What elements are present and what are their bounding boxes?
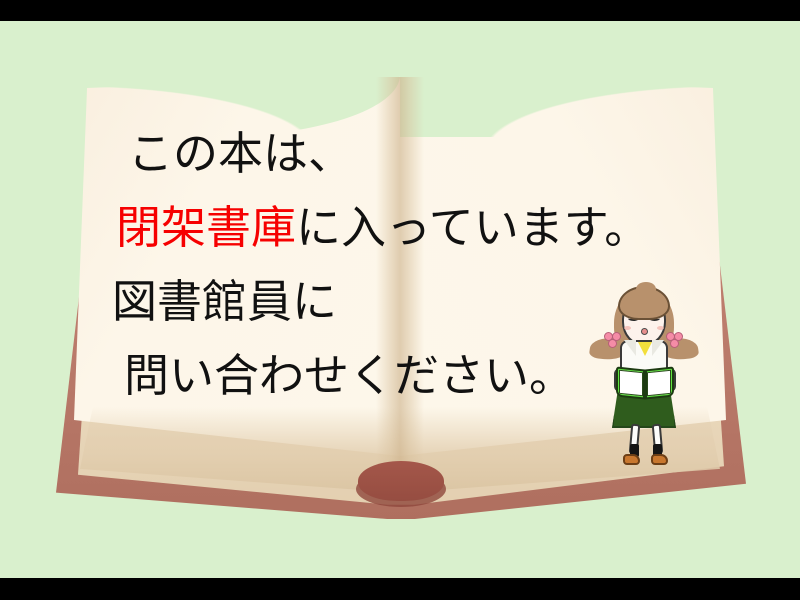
collar-left: [624, 340, 636, 356]
screenshot-canvas: この本は、 閉架書庫に入っています。 図書館員に 問い合わせください。: [0, 0, 800, 600]
flower-hairpin-right: [666, 332, 684, 350]
necktie: [638, 342, 652, 356]
message-line-2: 閉架書庫に入っています。: [86, 191, 726, 265]
held-book-page-right: [647, 370, 671, 397]
message-line-2-rest: に入っています。: [296, 201, 649, 254]
cheek-right: [657, 326, 664, 330]
cheek-left: [624, 326, 631, 330]
message-line-2-highlight: 閉架書庫: [116, 201, 296, 254]
message-line-1: この本は、: [86, 117, 726, 191]
shoe-right: [651, 454, 668, 465]
book-spine-knot: [358, 461, 444, 501]
mouth: [641, 328, 648, 335]
letterbox-bottom: [0, 578, 800, 600]
shoe-left: [623, 454, 640, 465]
held-book-page-left: [619, 370, 643, 397]
collar-right: [652, 340, 664, 356]
girl-reading-illustration: [596, 276, 696, 466]
letterbox-top: [0, 0, 800, 21]
hair-tuft: [636, 282, 656, 296]
green-backdrop: この本は、 閉架書庫に入っています。 図書館員に 問い合わせください。: [0, 21, 800, 578]
held-book: [616, 368, 674, 398]
